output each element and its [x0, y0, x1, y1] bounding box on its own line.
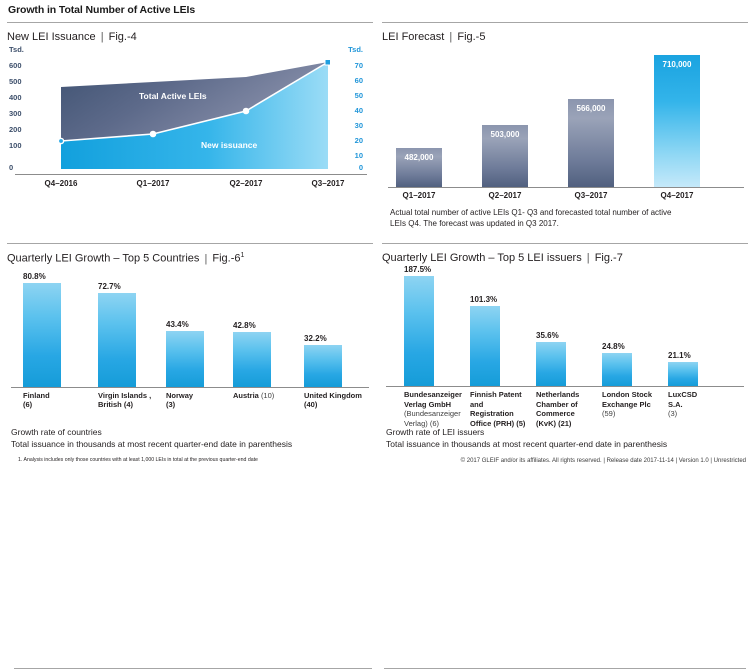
fig6-label-line2: British (4): [98, 400, 170, 410]
fig6-bar: 72.7%: [98, 293, 136, 387]
fig4-data-point: [150, 131, 155, 136]
fig4-x-label: Q3–2017: [312, 179, 345, 188]
fig7-title: Quarterly LEI Growth – Top 5 LEI issuers…: [382, 252, 748, 264]
copyright-notice: © 2017 GLEIF and/or its affiliates. All …: [461, 458, 746, 464]
fig6-bar: 80.8%: [23, 283, 61, 387]
fig4-plot-area: Total Active LEIs New issuance: [41, 57, 341, 169]
fig7-label-line1: Netherlands: [536, 390, 598, 400]
fig6-label-line1: Norway: [166, 391, 228, 401]
fig7-label-line1: Bundesanzeiger: [404, 390, 466, 400]
panel-lei-forecast: LEI Forecast | Fig.-5 482,000 503,000 56…: [382, 22, 748, 205]
panel-divider-bottom-left: [7, 243, 373, 244]
fig7-label-line2: Chamber of: [536, 400, 598, 410]
fig6-bar-value: 43.4%: [166, 320, 189, 329]
fig6-x-label: Finland (6): [23, 391, 93, 410]
fig5-x-label: Q3–2017: [575, 191, 608, 200]
fig5-annotation: Actual total number of active LEIs Q1- Q…: [390, 207, 738, 229]
fig6-bar-value: 72.7%: [98, 282, 121, 291]
fig6-label-line1: Finland: [23, 391, 93, 401]
fig4-right-tick: 10: [355, 151, 363, 160]
fig6-x-label: Austria (10): [233, 391, 313, 401]
fig4-title-text: New LEI Issuance: [7, 31, 96, 43]
fig5-x-label: Q2–2017: [489, 191, 522, 200]
fig7-plot-area: 187.5% 101.3% 35.6% 24.8% 21.1%: [386, 268, 744, 386]
fig4-x-axis: [15, 174, 367, 175]
fig7-label-line2: S.A.: [668, 400, 730, 410]
fig6-label-line1: Virgin Islands ,: [98, 391, 170, 401]
panel-divider-bottom-right: [382, 243, 748, 244]
fig7-label-line2: Exchange Plc: [602, 400, 664, 410]
fig6-title-text: Quarterly LEI Growth – Top 5 Countries: [7, 253, 199, 265]
fig7-bar-value: 187.5%: [404, 265, 431, 274]
fig7-foot-line2: Total issuance in thousands at most rece…: [386, 438, 742, 450]
fig6-figure-label: Fig.-6: [212, 253, 240, 265]
fig7-label-line1: LuxCSD: [668, 390, 730, 400]
fig5-chart: 482,000 503,000 566,000 710,000 Q1–2017 …: [382, 45, 748, 205]
fig7-bar: 35.6%: [536, 342, 566, 386]
fig5-title-separator: |: [447, 31, 454, 43]
fig4-right-tick: 50: [355, 91, 363, 100]
fig6-label-line1: Austria (10): [233, 391, 313, 401]
fig4-figure-label: Fig.-4: [109, 31, 137, 43]
panel-divider-top-left: [7, 22, 373, 23]
fig7-foot-line1: Growth rate of LEI issuers: [386, 426, 742, 438]
fig5-annotation-line2: LEIs Q4. The forecast was updated in Q3 …: [390, 218, 738, 229]
fig4-data-point: [325, 60, 331, 66]
fig6-x-label: Norway (3): [166, 391, 228, 410]
fig7-x-label: Finnish Patent and Registration Office (…: [470, 390, 532, 428]
fig5-bar: 482,000: [396, 148, 442, 187]
panel-divider-top-right: [382, 22, 748, 23]
fig4-total-series-label: Total Active LEIs: [139, 91, 207, 101]
fig6-plot-area: 80.8% 72.7% 43.4% 42.8% 32.2%: [11, 269, 369, 387]
fig6-bar-value: 80.8%: [23, 272, 46, 281]
fig6-footer: Growth rate of countries Total issuance …: [11, 426, 367, 450]
fig5-title-text: LEI Forecast: [382, 31, 444, 43]
fig7-chart: 187.5% 101.3% 35.6% 24.8% 21.1% Bundesan…: [382, 266, 748, 416]
fig4-data-point: [243, 108, 248, 113]
fig6-bar: 42.8%: [233, 332, 271, 387]
fig7-bar: 24.8%: [602, 353, 632, 386]
fig6-label-line1: United Kingdom: [304, 391, 384, 401]
fig7-label-line2: and: [470, 400, 532, 410]
fig4-left-tick: 300: [9, 109, 22, 118]
fig7-footer: Growth rate of LEI issuers Total issuanc…: [386, 426, 742, 450]
fig6-title: Quarterly LEI Growth – Top 5 Countries |…: [7, 252, 373, 265]
fig6-chart: 80.8% 72.7% 43.4% 42.8% 32.2% Finland (6…: [7, 267, 373, 417]
fig4-right-tick: 60: [355, 76, 363, 85]
fig4-left-tick: 200: [9, 125, 22, 134]
fig4-new-series-label: New issuance: [201, 140, 257, 150]
fig4-x-label: Q1–2017: [137, 179, 170, 188]
fig4-left-tick: 600: [9, 61, 22, 70]
fig4-left-tick: 0: [9, 163, 13, 172]
fig6-foot-line2: Total issuance in thousands at most rece…: [11, 438, 367, 450]
fig7-x-label: Bundesanzeiger Verlag GmbH (Bundesanzeig…: [404, 390, 466, 428]
fig4-title: New LEI Issuance | Fig.-4: [7, 31, 373, 43]
fig7-x-label: LuxCSD S.A. (3): [668, 390, 730, 419]
fig7-bar: 21.1%: [668, 362, 698, 386]
fig4-area-svg: [41, 57, 341, 169]
fig5-bar: 566,000: [568, 99, 614, 187]
fig6-x-axis: [11, 387, 369, 388]
fig6-label-line2: (6): [23, 400, 93, 410]
page-title: Growth in Total Number of Active LEIs: [8, 4, 195, 16]
fig7-bar: 101.3%: [470, 306, 500, 386]
fig4-right-tick: 0: [359, 163, 363, 172]
fig6-bar-value: 32.2%: [304, 334, 327, 343]
fig5-plot-area: 482,000 503,000 566,000 710,000: [390, 51, 744, 187]
fig4-left-tick: 500: [9, 77, 22, 86]
fig7-title-text: Quarterly LEI Growth – Top 5 LEI issuers: [382, 252, 582, 264]
fig7-bar-value: 21.1%: [668, 351, 691, 360]
fig7-figure-label: Fig.-7: [595, 252, 623, 264]
fig5-x-labels: Q1–2017 Q2–2017 Q3–2017 Q4–2017: [390, 191, 744, 205]
fig5-x-label: Q4–2017: [661, 191, 694, 200]
fig6-bar: 43.4%: [166, 331, 204, 387]
fig6-x-label: Virgin Islands , British (4): [98, 391, 170, 410]
fig7-label-line3: (59): [602, 409, 664, 419]
fig5-annotation-line1: Actual total number of active LEIs Q1- Q…: [390, 207, 738, 218]
fig5-figure-label: Fig.-5: [457, 31, 485, 43]
fig4-right-axis-unit: Tsd.: [348, 45, 363, 54]
fig4-x-label: Q4–2016: [45, 179, 78, 188]
fig4-left-axis-unit: Tsd.: [9, 45, 24, 54]
fig7-title-separator: |: [585, 252, 592, 264]
fig7-bar-value: 35.6%: [536, 331, 559, 340]
fig4-right-tick: 70: [355, 61, 363, 70]
fig5-bar: 710,000: [654, 55, 700, 187]
fig6-label-line2: (3): [166, 400, 228, 410]
fig6-label-paren: (10): [261, 391, 274, 400]
fig7-label-line1: Finnish Patent: [470, 390, 532, 400]
fig6-title-separator: |: [202, 253, 209, 265]
fig4-left-tick: 100: [9, 141, 22, 150]
fig6-bar-value: 42.8%: [233, 321, 256, 330]
fig5-title: LEI Forecast | Fig.-5: [382, 31, 748, 43]
fig7-x-axis: [386, 386, 744, 387]
fig5-bar: 503,000: [482, 125, 528, 187]
fig4-title-separator: |: [99, 31, 106, 43]
fig7-x-label: London Stock Exchange Plc (59): [602, 390, 664, 419]
fig4-x-label: Q2–2017: [230, 179, 263, 188]
fig5-bar-value: 503,000: [482, 130, 528, 139]
fig4-right-tick: 20: [355, 136, 363, 145]
fig4-data-point: [58, 138, 63, 143]
fig7-label-line3: Commerce: [536, 409, 598, 419]
fig7-label-line1: London Stock: [602, 390, 664, 400]
fig6-x-label: United Kingdom (40): [304, 391, 384, 410]
fig4-right-tick: 30: [355, 121, 363, 130]
fig7-label-line3: (Bundesanzeiger: [404, 409, 466, 419]
fig6-label-line2: (40): [304, 400, 384, 410]
panel-new-lei-issuance: New LEI Issuance | Fig.-4 Tsd. Tsd. 600 …: [7, 22, 373, 200]
fig4-right-tick: 40: [355, 106, 363, 115]
fig4-x-labels: Q4–2016 Q1–2017 Q2–2017 Q3–2017: [41, 179, 341, 193]
fig7-bar-value: 101.3%: [470, 295, 497, 304]
fig7-bar: 187.5%: [404, 276, 434, 386]
fig7-label-line2: Verlag GmbH: [404, 400, 466, 410]
fig6-foot-line1: Growth rate of countries: [11, 426, 367, 438]
panel-top5-countries: Quarterly LEI Growth – Top 5 Countries |…: [7, 243, 373, 417]
fig6-bar: 32.2%: [304, 345, 342, 387]
fig7-bar-value: 24.8%: [602, 342, 625, 351]
fig4-left-tick: 400: [9, 93, 22, 102]
fig5-x-label: Q1–2017: [403, 191, 436, 200]
fig7-x-label: Netherlands Chamber of Commerce (KvK) (2…: [536, 390, 598, 428]
fig5-x-axis: [388, 187, 744, 188]
fig5-bar-value: 710,000: [654, 60, 700, 69]
fig7-label-line3: (3): [668, 409, 730, 419]
fig6-label-name: Austria: [233, 391, 259, 400]
fig6-footnote-marker: 1: [241, 252, 245, 259]
fig7-label-line3: Registration: [470, 409, 532, 419]
panel-top5-issuers: Quarterly LEI Growth – Top 5 LEI issuers…: [382, 243, 748, 416]
fig5-bar-value: 566,000: [568, 104, 614, 113]
fig6-footnote: 1. Analysis includes only those countrie…: [18, 457, 362, 464]
fig5-bar-value: 482,000: [396, 153, 442, 162]
fig4-chart: Tsd. Tsd. 600 500 400 300 200 100 0 70 6…: [7, 45, 373, 200]
